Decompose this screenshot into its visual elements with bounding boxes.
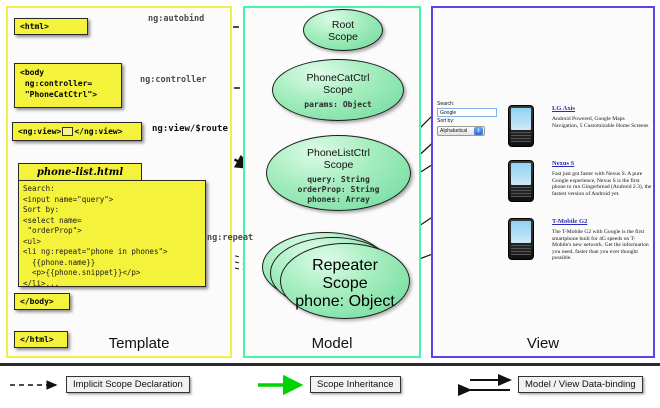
phone-name-link[interactable]: LG Axis: [552, 105, 652, 113]
code-box-body-close: </body>: [14, 293, 70, 310]
scope-phonelistctrl-prop-phones: phones: Array: [267, 195, 410, 205]
code-box-body-open: <body ng:controller= "PhoneCatCtrl">: [14, 63, 122, 108]
diagram-canvas: Template Model View <html> <body ng:cont…: [0, 0, 660, 405]
code-box-ng-view: <ng:view> </ng:view>: [12, 122, 142, 141]
phone-name-link[interactable]: T-Mobile G2: [552, 218, 652, 226]
label-ng-repeat: ng:repeat: [207, 233, 253, 243]
search-label: Search:: [437, 101, 499, 108]
scope-phonecatctrl-line1: PhoneCatCtrl: [273, 72, 403, 84]
panel-model-label: Model: [245, 335, 419, 352]
phone-keyboard-graphic: [511, 245, 531, 255]
ng-view-slot-icon: [62, 127, 73, 136]
panel-view-label: View: [433, 335, 653, 352]
legend-model-view-data-binding: Model / View Data-binding: [518, 376, 643, 393]
list-item[interactable]: T-Mobile G2 The T-Mobile G2 with Google …: [508, 218, 652, 262]
legend-implicit-scope-declaration: Implicit Scope Declaration: [66, 376, 190, 393]
phone-screen-graphic: [511, 108, 531, 130]
scope-root-line2: Scope: [304, 31, 382, 43]
note-phone-list-html: phone-list.html Search: <input name="que…: [18, 163, 206, 287]
scope-phonelistctrl-prop-query: query: String: [267, 175, 410, 185]
scope-repeater-prop-phone: phone: Object: [281, 293, 409, 311]
ng-view-close-tag: </ng:view>: [74, 126, 122, 137]
scope-phonelistctrl-prop-orderprop: orderProp: String: [267, 185, 410, 195]
phone-screen-graphic: [511, 163, 531, 185]
chevron-updown-icon: ⇕: [474, 127, 483, 135]
scope-phonecatctrl-line2: Scope: [273, 84, 403, 96]
phone-thumbnail: [508, 218, 534, 260]
label-ng-view-route: ng:view/$route: [152, 124, 228, 134]
note-title: phone-list.html: [18, 163, 142, 181]
scope-phonelistctrl-line1: PhoneListCtrl: [267, 147, 410, 159]
label-ng-controller: ng:controller: [140, 75, 207, 85]
scope-repeater-line2: Scope: [281, 275, 409, 293]
phone-thumbnail: [508, 160, 534, 202]
scope-phonecatctrl: PhoneCatCtrl Scope params: Object: [272, 59, 404, 121]
sort-by-selected-value: Alphabetical: [440, 128, 474, 134]
label-ng-autobind: ng:autobind: [148, 14, 204, 24]
sort-by-label: Sort by:: [437, 118, 499, 125]
phone-snippet: Fast just got faster with Nexus S. A pur…: [552, 171, 652, 197]
scope-phonecatctrl-prop-params: params: Object: [273, 100, 403, 110]
scope-phonelistctrl: PhoneListCtrl Scope query: String orderP…: [266, 135, 411, 211]
phone-screen-graphic: [511, 221, 531, 243]
legend-scope-inheritance: Scope Inheritance: [310, 376, 401, 393]
phone-keyboard-graphic: [511, 187, 531, 197]
scope-repeater-line1: Repeater: [281, 257, 409, 275]
list-item[interactable]: LG Axis Android Powered, Google Maps Nav…: [508, 105, 652, 129]
phone-snippet: The T-Mobile G2 with Google is the first…: [552, 229, 652, 262]
sort-by-select[interactable]: Alphabetical ⇕: [437, 126, 485, 136]
scope-root-line1: Root: [304, 19, 382, 31]
note-code: Search: <input name="query"> Sort by: <s…: [18, 180, 206, 287]
phone-thumbnail: [508, 105, 534, 147]
ng-view-open-tag: <ng:view>: [18, 126, 61, 137]
search-input[interactable]: Google: [437, 108, 497, 117]
view-search-form: Search: Google Sort by: Alphabetical ⇕: [437, 101, 499, 136]
scope-repeater: Repeater Scope phone: Object: [280, 243, 410, 319]
scope-root: Root Scope: [303, 9, 383, 51]
scope-phonelistctrl-line2: Scope: [267, 159, 410, 171]
list-item[interactable]: Nexus S Fast just got faster with Nexus …: [508, 160, 652, 197]
phone-name-link[interactable]: Nexus S: [552, 160, 652, 168]
phone-keyboard-graphic: [511, 132, 531, 142]
legend: Implicit Scope Declaration Scope Inherit…: [0, 363, 660, 408]
code-box-html-open: <html>: [14, 18, 88, 35]
phone-snippet: Android Powered, Google Maps Navigation,…: [552, 116, 652, 129]
scope-repeater-stack: Repeater Scope phone: Object: [262, 232, 412, 320]
code-box-html-close: </html>: [14, 331, 68, 348]
